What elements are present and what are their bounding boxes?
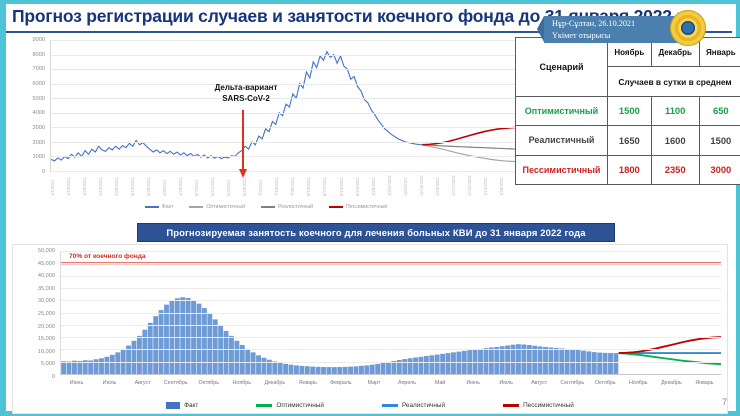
x-tick-label: Сентябрь: [560, 380, 584, 386]
x-tick-label: Октябрь: [595, 380, 616, 386]
x-tick-label: 6/18/2021: [242, 177, 247, 196]
legend-swatch: [261, 206, 275, 208]
x-tick-label: 4/23/2021: [178, 177, 183, 196]
gridline: [61, 251, 721, 252]
cases-forecast-chart: 0100020003000400050006000700080009000 1/…: [10, 34, 522, 214]
scenario-table: Сценарий Ноябрь Декабрь Январь Случаев в…: [515, 37, 740, 185]
beds-chart-x-axis: ИюньИюльАвгустСентябрьОктябрьНоябрьДекаб…: [60, 379, 721, 391]
y-tick-label: 6000: [33, 81, 45, 87]
annotation-line-2: SARS-CoV-2: [186, 93, 306, 104]
x-tick-label: 12/31/2021: [467, 175, 472, 196]
x-tick-label: Февраль: [330, 380, 352, 386]
y-tick-label: 15,000: [38, 336, 55, 342]
x-tick-label: 12/3/2021: [435, 177, 440, 196]
beds-chart-legend: ФактОптимистичныйРеалистичныйПессимистич…: [13, 398, 727, 412]
cases-chart-plot: [50, 40, 518, 172]
legend-item-пессимистичный: Пессимистичный: [329, 204, 387, 210]
x-tick-label: 11/19/2021: [419, 175, 424, 196]
legend-swatch: [256, 404, 272, 407]
gridline: [51, 69, 518, 70]
x-tick-label: 1/14/2022: [483, 177, 488, 196]
y-tick-label: 1000: [33, 154, 45, 160]
y-tick-label: 9000: [33, 37, 45, 43]
beds-chart-y-axis: 05,00010,00015,00020,00025,00030,00035,0…: [13, 251, 58, 375]
x-tick-label: Август: [135, 380, 151, 386]
y-tick-label: 7000: [33, 66, 45, 72]
gridline: [61, 313, 721, 314]
x-tick-label: Апрель: [398, 380, 416, 386]
x-tick-label: 3/12/2021: [130, 177, 135, 196]
x-tick-label: Декабрь: [264, 380, 285, 386]
gridline: [51, 127, 518, 128]
x-tick-label: 11/5/2021: [403, 178, 408, 196]
x-tick-label: Март: [368, 380, 381, 386]
y-tick-label: 10,000: [38, 349, 55, 355]
legend-item-факт: Факт: [145, 204, 174, 210]
cell-optimistic-dec: 1100: [651, 96, 699, 125]
gridline: [61, 288, 721, 289]
x-tick-label: Май: [435, 380, 445, 386]
x-tick-label: Июнь: [70, 380, 83, 386]
gridline: [61, 337, 721, 338]
cell-realistic-jan: 1500: [699, 126, 740, 155]
cell-pessimistic-jan: 3000: [699, 155, 740, 184]
legend-label: Реалистичный: [402, 402, 445, 409]
page-number: 7: [722, 397, 727, 407]
x-tick-label: 1/1/2021: [50, 180, 55, 196]
gridline: [61, 362, 721, 363]
x-tick-label: 4/9/2021: [162, 180, 167, 196]
legend-swatch: [382, 404, 398, 407]
y-tick-label: 0: [52, 374, 55, 380]
th-subheader: Случаев в сутки в среднем: [608, 67, 740, 96]
x-tick-label: 12/17/2021: [451, 175, 456, 196]
gridline: [61, 349, 721, 350]
gridline: [51, 142, 518, 143]
legend-swatch: [329, 206, 343, 208]
row-label-realistic: Реалистичный: [516, 126, 608, 155]
x-tick-label: 2/12/2021: [98, 177, 103, 196]
x-tick-label: 9/24/2021: [355, 177, 360, 196]
x-tick-label: 7/16/2021: [274, 177, 279, 196]
x-tick-label: Декабрь: [661, 380, 682, 386]
cases-chart-x-axis: 1/1/20211/15/20211/29/20212/12/20212/26/…: [50, 172, 518, 196]
cell-pessimistic-dec: 2350: [651, 155, 699, 184]
x-tick-label: 9/10/2021: [339, 177, 344, 196]
y-tick-label: 35,000: [38, 286, 55, 292]
beds-chart-plot: 70% от коечного фонда: [60, 251, 721, 375]
ribbon-location-date: Нұр-Сұлтан, 26.10.2021: [552, 18, 680, 30]
y-tick-label: 0: [42, 169, 45, 175]
legend-label: Факт: [162, 204, 174, 210]
legend-label: Реалистичный: [278, 204, 313, 210]
table-row: Реалистичный 1650 1600 1500: [516, 126, 740, 155]
gridline: [61, 325, 721, 326]
delta-variant-annotation: Дельта-вариант SARS-CoV-2: [186, 82, 306, 104]
x-tick-label: Ноябрь: [233, 380, 251, 386]
gridline: [61, 263, 721, 264]
cell-realistic-dec: 1600: [651, 126, 699, 155]
legend-label: Оптимистичный: [206, 204, 245, 210]
slide-frame: Прогноз регистрации случаев и занятости …: [0, 0, 740, 416]
cell-optimistic-nov: 1500: [608, 96, 652, 125]
x-tick-label: 10/22/2021: [387, 175, 392, 196]
cases-chart-y-axis: 0100020003000400050006000700080009000: [10, 40, 48, 172]
legend-item-оптимистичный: Оптимистичный: [189, 204, 245, 210]
x-tick-label: Январь: [695, 380, 713, 386]
x-tick-label: 5/7/2021: [194, 180, 199, 196]
gridline: [61, 300, 721, 301]
x-tick-label: 7/2/2021: [258, 180, 263, 196]
x-tick-label: 2/26/2021: [114, 177, 119, 196]
table-row: Оптимистичный 1500 1100 650: [516, 96, 740, 125]
legend-label: Пессимистичный: [346, 204, 387, 210]
beds-section-banner: Прогнозируемая занятость коечного для ле…: [137, 223, 615, 242]
cases-chart-legend: ФактОптимистичныйРеалистичныйПессимистич…: [10, 200, 522, 214]
gridline: [51, 55, 518, 56]
y-tick-label: 45,000: [38, 261, 55, 267]
cell-pessimistic-nov: 1800: [608, 155, 652, 184]
y-tick-label: 30,000: [38, 298, 55, 304]
legend-item-факт: Факт: [166, 402, 198, 409]
legend-label: Факт: [184, 402, 198, 409]
delta-variant-arrow-icon: [242, 110, 244, 170]
slide-inner: Прогноз регистрации случаев и занятости …: [6, 4, 736, 411]
y-tick-label: 8000: [33, 52, 45, 58]
legend-label: Оптимистичный: [276, 402, 324, 409]
x-tick-label: Сентябрь: [164, 380, 188, 386]
cell-optimistic-jan: 650: [699, 96, 740, 125]
y-tick-label: 50,000: [38, 248, 55, 254]
x-tick-label: 1/29/2021: [82, 177, 87, 196]
x-tick-label: 1/28/2022: [499, 177, 504, 196]
gridline: [61, 374, 721, 375]
kazakhstan-emblem-icon: [670, 10, 706, 46]
x-tick-label: Июнь: [466, 380, 479, 386]
cases-chart-gridlines: [51, 40, 518, 171]
x-tick-label: Октябрь: [198, 380, 219, 386]
legend-swatch: [166, 402, 180, 409]
x-tick-label: 3/26/2021: [146, 177, 151, 196]
y-tick-label: 5000: [33, 96, 45, 102]
th-scenario: Сценарий: [516, 38, 608, 97]
legend-item-оптимистичный: Оптимистичный: [256, 402, 324, 409]
gridline: [51, 40, 518, 41]
x-tick-label: 8/13/2021: [306, 177, 311, 196]
meeting-ribbon: Нұр-Сұлтан, 26.10.2021 Үкімет отырысы: [544, 16, 684, 43]
x-tick-label: Июль: [103, 380, 117, 386]
gridline: [51, 156, 518, 157]
x-tick-label: 6/4/2021: [226, 180, 231, 196]
th-month-2: Январь: [699, 38, 740, 67]
legend-item-реалистичный: Реалистичный: [382, 402, 445, 409]
y-tick-label: 40,000: [38, 273, 55, 279]
row-label-optimistic: Оптимистичный: [516, 96, 608, 125]
table-row: Пессимистичный 1800 2350 3000: [516, 155, 740, 184]
legend-swatch: [189, 206, 203, 208]
x-tick-label: 1/15/2021: [66, 177, 71, 196]
legend-item-пессимистичный: Пессимистичный: [503, 402, 574, 409]
annotation-line-1: Дельта-вариант: [186, 82, 306, 93]
row-label-pessimistic: Пессимистичный: [516, 155, 608, 184]
y-tick-label: 4000: [33, 110, 45, 116]
x-tick-label: 7/30/2021: [290, 177, 295, 196]
y-tick-label: 2000: [33, 140, 45, 146]
x-tick-label: Июль: [499, 380, 513, 386]
y-tick-label: 20,000: [38, 324, 55, 330]
x-tick-label: 8/27/2021: [322, 177, 327, 196]
legend-label: Пессимистичный: [523, 402, 574, 409]
beds-occupancy-chart: 05,00010,00015,00020,00025,00030,00035,0…: [12, 244, 728, 414]
x-tick-label: Август: [531, 380, 547, 386]
ribbon-subtitle: Үкімет отырысы: [552, 30, 680, 42]
x-tick-label: 5/21/2021: [210, 177, 215, 196]
cell-realistic-nov: 1650: [608, 126, 652, 155]
y-tick-label: 3000: [33, 125, 45, 131]
y-tick-label: 25,000: [38, 311, 55, 317]
legend-item-реалистичный: Реалистичный: [261, 204, 313, 210]
x-tick-label: 10/8/2021: [371, 177, 376, 196]
threshold-label: 70% от коечного фонда: [69, 253, 146, 260]
legend-swatch: [145, 206, 159, 208]
legend-swatch: [503, 404, 519, 407]
gridline: [61, 276, 721, 277]
x-tick-label: Январь: [299, 380, 317, 386]
x-tick-label: Ноябрь: [629, 380, 647, 386]
gridline: [51, 113, 518, 114]
y-tick-label: 5,000: [41, 361, 55, 367]
